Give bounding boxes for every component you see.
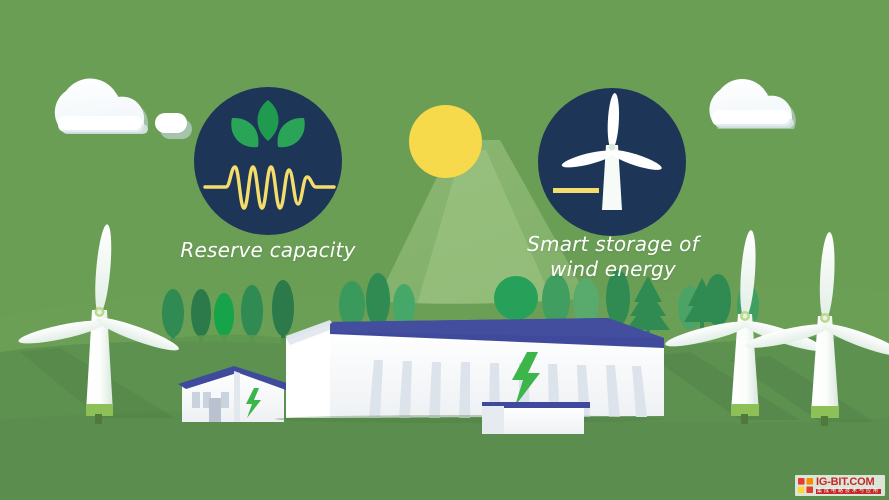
sun-icon [409,105,482,178]
badge-label-smart-storage: Smart storage of wind energy [488,232,738,282]
badge-label-reserve-capacity: Reserve capacity [148,238,388,263]
watermark-logo-icon [798,478,813,493]
illustration-canvas: Reserve capacity Smart storage of wind e… [0,0,889,500]
watermark-text-block: IG-BIT.COM 集成电路技术与应用 [816,477,881,494]
watermark-domain: IG-BIT.COM [816,477,881,488]
ig-bit-watermark: IG-BIT.COM 集成电路技术与应用 [795,475,885,496]
sky-background [0,0,889,500]
watermark-subtitle: 集成电路技术与应用 [816,489,881,494]
